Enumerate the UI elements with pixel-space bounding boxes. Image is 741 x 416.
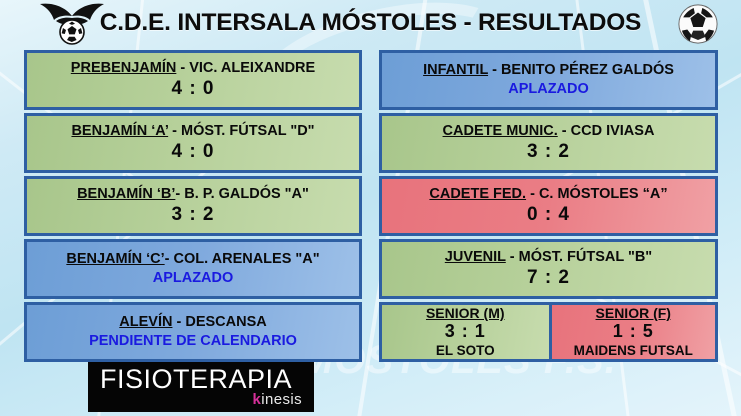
category-label: JUVENIL <box>445 249 506 265</box>
match-title: JUVENIL - MÓST. FÚTSAL "B" <box>445 249 652 266</box>
sponsor-subname-k: k <box>253 391 262 408</box>
match-title: PREBENJAMÍN - VIC. ALEIXANDRE <box>71 60 315 77</box>
separator: - <box>168 123 181 139</box>
score-value: 0 : 4 <box>527 204 570 226</box>
separator: - <box>488 62 501 78</box>
sponsor-name: FISIOTERAPIA <box>100 367 314 393</box>
opponent-label: C. MÓSTOLES “A” <box>539 186 668 202</box>
separator: - <box>558 123 571 139</box>
status-badge: PENDIENTE DE CALENDARIO <box>89 333 297 350</box>
score-value: 3 : 2 <box>527 141 570 163</box>
opponent-label: MÓST. FÚTSAL "B" <box>519 249 653 265</box>
match-title: INFANTIL - BENITO PÉREZ GALDÓS <box>423 62 674 79</box>
result-card-cadete-munic[interactable]: CADETE MUNIC. - CCD IVIASA 3 : 2 <box>379 113 718 173</box>
result-card-benjamin-b[interactable]: BENJAMÍN ‘B’- B. P. GALDÓS "A" 3 : 2 <box>24 176 362 236</box>
separator: - <box>526 186 539 202</box>
category-label: SENIOR (M) <box>426 305 505 321</box>
score-value: 3 : 2 <box>171 204 214 226</box>
category-label: ALEVÍN <box>119 314 172 330</box>
score-value: 4 : 0 <box>171 78 214 100</box>
opponent-label: BENITO PÉREZ GALDÓS <box>501 62 674 78</box>
opponent-label: MAIDENS FUTSAL <box>574 343 693 359</box>
result-card-benjamin-a[interactable]: BENJAMÍN ‘A’ - MÓST. FÚTSAL "D" 4 : 0 <box>24 113 362 173</box>
result-card-senior-femenino[interactable]: SENIOR (F) 1 : 5 MAIDENS FUTSAL <box>549 305 716 359</box>
separator: - <box>165 251 174 267</box>
opponent-label: EL SOTO <box>436 343 495 359</box>
separator: - <box>172 314 185 330</box>
match-title: CADETE MUNIC. - CCD IVIASA <box>443 123 655 140</box>
opponent-label: VIC. ALEIXANDRE <box>189 60 315 76</box>
score-value: 7 : 2 <box>527 267 570 289</box>
category-label: BENJAMÍN ‘C’ <box>66 251 164 267</box>
opponent-label: CCD IVIASA <box>571 123 655 139</box>
opponent-label: COL. ARENALES "A" <box>174 251 320 267</box>
result-card-senior-row[interactable]: SENIOR (M) 3 : 1 EL SOTO SENIOR (F) 1 : … <box>379 302 718 362</box>
score-value: 4 : 0 <box>171 141 214 163</box>
header-bar: C.D.E. INTERSALA MÓSTOLES - RESULTADOS <box>0 0 741 46</box>
category-label: INFANTIL <box>423 62 488 78</box>
sponsor-subname: kinesis <box>253 392 303 407</box>
opponent-label: DESCANSA <box>185 314 266 330</box>
opponent-label: MÓST. FÚTSAL "D" <box>181 123 315 139</box>
result-card-alevin[interactable]: ALEVÍN - DESCANSA PENDIENTE DE CALENDARI… <box>24 302 362 362</box>
score-value: 1 : 5 <box>613 321 654 342</box>
results-grid: PREBENJAMÍN - VIC. ALEIXANDRE 4 : 0 INFA… <box>24 50 718 362</box>
match-title: BENJAMÍN ‘B’- B. P. GALDÓS "A" <box>77 186 309 203</box>
page-title: C.D.E. INTERSALA MÓSTOLES - RESULTADOS <box>100 9 641 37</box>
sponsor-subname-rest: inesis <box>261 391 302 408</box>
category-label: SENIOR (F) <box>596 305 671 321</box>
category-label: CADETE FED. <box>429 186 526 202</box>
result-card-cadete-fed[interactable]: CADETE FED. - C. MÓSTOLES “A” 0 : 4 <box>379 176 718 236</box>
opponent-label: B. P. GALDÓS "A" <box>184 186 309 202</box>
match-title: ALEVÍN - DESCANSA <box>119 314 266 331</box>
result-card-prebenjamin[interactable]: PREBENJAMÍN - VIC. ALEIXANDRE 4 : 0 <box>24 50 362 110</box>
category-label: CADETE MUNIC. <box>443 123 558 139</box>
category-label: BENJAMÍN ‘A’ <box>71 123 168 139</box>
match-title: SENIOR (F) <box>596 305 671 321</box>
sponsor-logo-fisioterapia-kinesis: FISIOTERAPIA kinesis <box>88 362 314 412</box>
status-badge: APLAZADO <box>508 81 589 98</box>
category-label: PREBENJAMÍN <box>71 60 177 76</box>
category-label: BENJAMÍN ‘B’ <box>77 186 175 202</box>
separator: - <box>175 186 184 202</box>
result-card-juvenil[interactable]: JUVENIL - MÓST. FÚTSAL "B" 7 : 2 <box>379 239 718 299</box>
separator: - <box>506 249 519 265</box>
result-card-benjamin-c[interactable]: BENJAMÍN ‘C’- COL. ARENALES "A" APLAZADO <box>24 239 362 299</box>
separator: - <box>176 60 189 76</box>
results-board: MOSTOLES F.S. C.D.E. INTERSALA MÓSTOLES … <box>0 0 741 416</box>
result-card-infantil[interactable]: INFANTIL - BENITO PÉREZ GALDÓS APLAZADO <box>379 50 718 110</box>
result-card-senior-masculino[interactable]: SENIOR (M) 3 : 1 EL SOTO <box>382 305 549 359</box>
match-title: BENJAMÍN ‘C’- COL. ARENALES "A" <box>66 251 319 268</box>
match-title: BENJAMÍN ‘A’ - MÓST. FÚTSAL "D" <box>71 123 314 140</box>
match-title: CADETE FED. - C. MÓSTOLES “A” <box>429 186 667 203</box>
match-title: SENIOR (M) <box>426 305 505 321</box>
status-badge: APLAZADO <box>153 270 234 287</box>
score-value: 3 : 1 <box>445 321 486 342</box>
